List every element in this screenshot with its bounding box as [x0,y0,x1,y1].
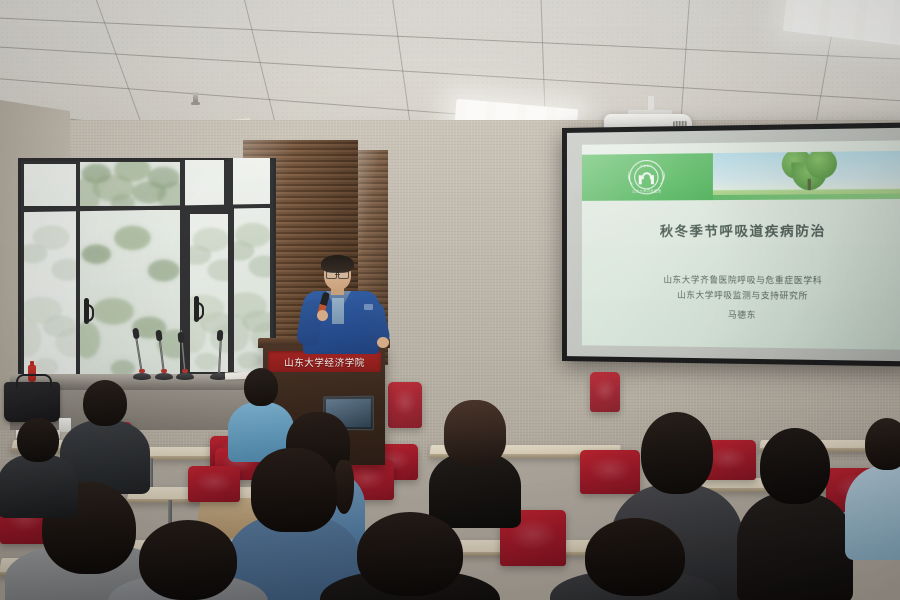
lecture-hall-photo: 1901 山东大学齐鲁医院 [0,0,900,600]
audience-member [330,512,490,600]
audience-member [0,418,76,510]
fire-sprinkler-icon [193,92,198,103]
projection-screen: 1901 山东大学齐鲁医院 [562,122,900,366]
university-seal-icon: 1901 山东大学齐鲁医院 [629,160,664,195]
slide-banner-photo [713,151,900,200]
presenter [293,258,389,354]
gooseneck-microphone [176,332,196,380]
glasses-icon [326,271,349,277]
audience-member [852,418,900,558]
slide-title: 秋冬季节呼吸道疾病防治 [582,220,900,240]
classroom-chair[interactable] [590,372,620,412]
window-transom-pane [80,162,180,206]
presentation-slide: 1901 山东大学齐鲁医院 [582,140,900,349]
black-handbag [4,382,60,422]
audience-member [738,428,852,600]
window-transom-pane [24,164,76,206]
audience-member [430,400,520,520]
screen-surface: 1901 山东大学齐鲁医院 [567,128,900,362]
audience-member [560,518,710,600]
seal-year: 1901 [629,163,664,168]
slide-logo-block: 1901 山东大学齐鲁医院 [582,153,713,201]
window-transom-pane [184,160,224,206]
classroom-chair[interactable] [388,382,422,428]
window-transom-pane [228,158,270,206]
classroom-chair[interactable] [188,466,240,502]
slide-header-banner: 1901 山东大学齐鲁医院 [582,151,900,201]
window-handle[interactable] [84,298,89,324]
slide-subtitle-line-2: 山东大学呼吸监测与支持研究所 [582,288,900,303]
window-pane-frosted-left [24,210,76,378]
podium-banner-text: 山东大学经济学院 [284,355,365,369]
heart-tree-icon [782,151,837,191]
gooseneck-microphone [133,328,153,380]
gooseneck-microphone [155,330,175,380]
seal-ring-text: 山东大学齐鲁医院 [629,188,664,193]
slide-presenter-name: 马德东 [582,307,900,322]
window-handle[interactable] [194,296,199,322]
audience-member [118,520,258,600]
slide-subtitle-line-1: 山东大学齐鲁医院呼吸与危重症医学科 [582,273,900,287]
